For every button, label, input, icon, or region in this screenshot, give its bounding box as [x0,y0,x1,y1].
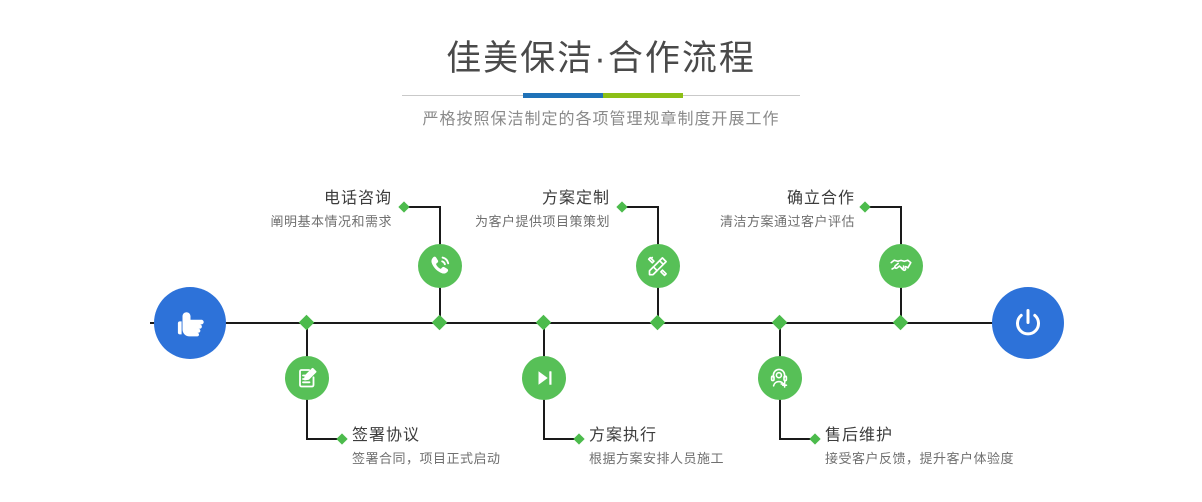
step-5-title: 确立合作 [630,188,855,210]
step-5-axis-diamond [893,315,909,331]
pencil-ruler-icon [645,253,671,279]
step-4-desc: 根据方案安排人员施工 [589,449,849,469]
handshake-icon [888,253,914,279]
step-3-label: 方案定制 为客户提供项目策策划 [398,188,610,232]
step-2-node [285,356,329,400]
step-3-node [636,244,680,288]
step-4-node [522,356,566,400]
pointing-hand-icon [170,303,210,343]
document-sign-icon [294,365,320,391]
step-5-node [879,244,923,288]
phone-call-icon [427,253,453,279]
step-5-label: 确立合作 清洁方案通过客户评估 [630,188,855,232]
step-4-label: 方案执行 根据方案安排人员施工 [589,425,849,469]
power-icon [1008,303,1048,343]
step-5-label-diamond [859,201,870,212]
step-5-elbow [867,206,902,208]
step-2-label: 签署协议 签署合同，项目正式启动 [352,425,612,469]
step-2-desc: 签署合同，项目正式启动 [352,449,612,469]
step-6-desc: 接受客户反馈，提升客户体验度 [825,449,1095,469]
timeline-start-node [154,287,226,359]
step-6-axis-diamond [772,315,788,331]
step-1-axis-diamond [432,315,448,331]
step-3-axis-diamond [650,315,666,331]
step-1-desc: 阐明基本情况和需求 [180,212,392,232]
timeline-axis [150,322,1052,324]
step-3-desc: 为客户提供项目策策划 [398,212,610,232]
step-2-label-diamond [336,433,347,444]
step-1-node [418,244,462,288]
step-1-title: 电话咨询 [180,188,392,210]
step-3-title: 方案定制 [398,188,610,210]
cooperation-process-infographic: 佳美保洁·合作流程 严格按照保洁制定的各项管理规章制度开展工作 [0,0,1202,502]
step-1-label: 电话咨询 阐明基本情况和需求 [180,188,392,232]
timeline: 电话咨询 阐明基本情况和需求 签署协议 签署合同，项目正式启动 [0,0,1202,502]
step-4-axis-diamond [536,315,552,331]
step-6-label: 售后维护 接受客户反馈，提升客户体验度 [825,425,1095,469]
step-6-title: 售后维护 [825,425,1095,447]
step-2-axis-diamond [299,315,315,331]
step-6-node [758,356,802,400]
step-2-title: 签署协议 [352,425,612,447]
step-5-desc: 清洁方案通过客户评估 [630,212,855,232]
play-execute-icon [531,365,557,391]
step-4-title: 方案执行 [589,425,849,447]
headset-support-icon [767,365,793,391]
step-3-label-diamond [616,201,627,212]
timeline-end-node [992,287,1064,359]
